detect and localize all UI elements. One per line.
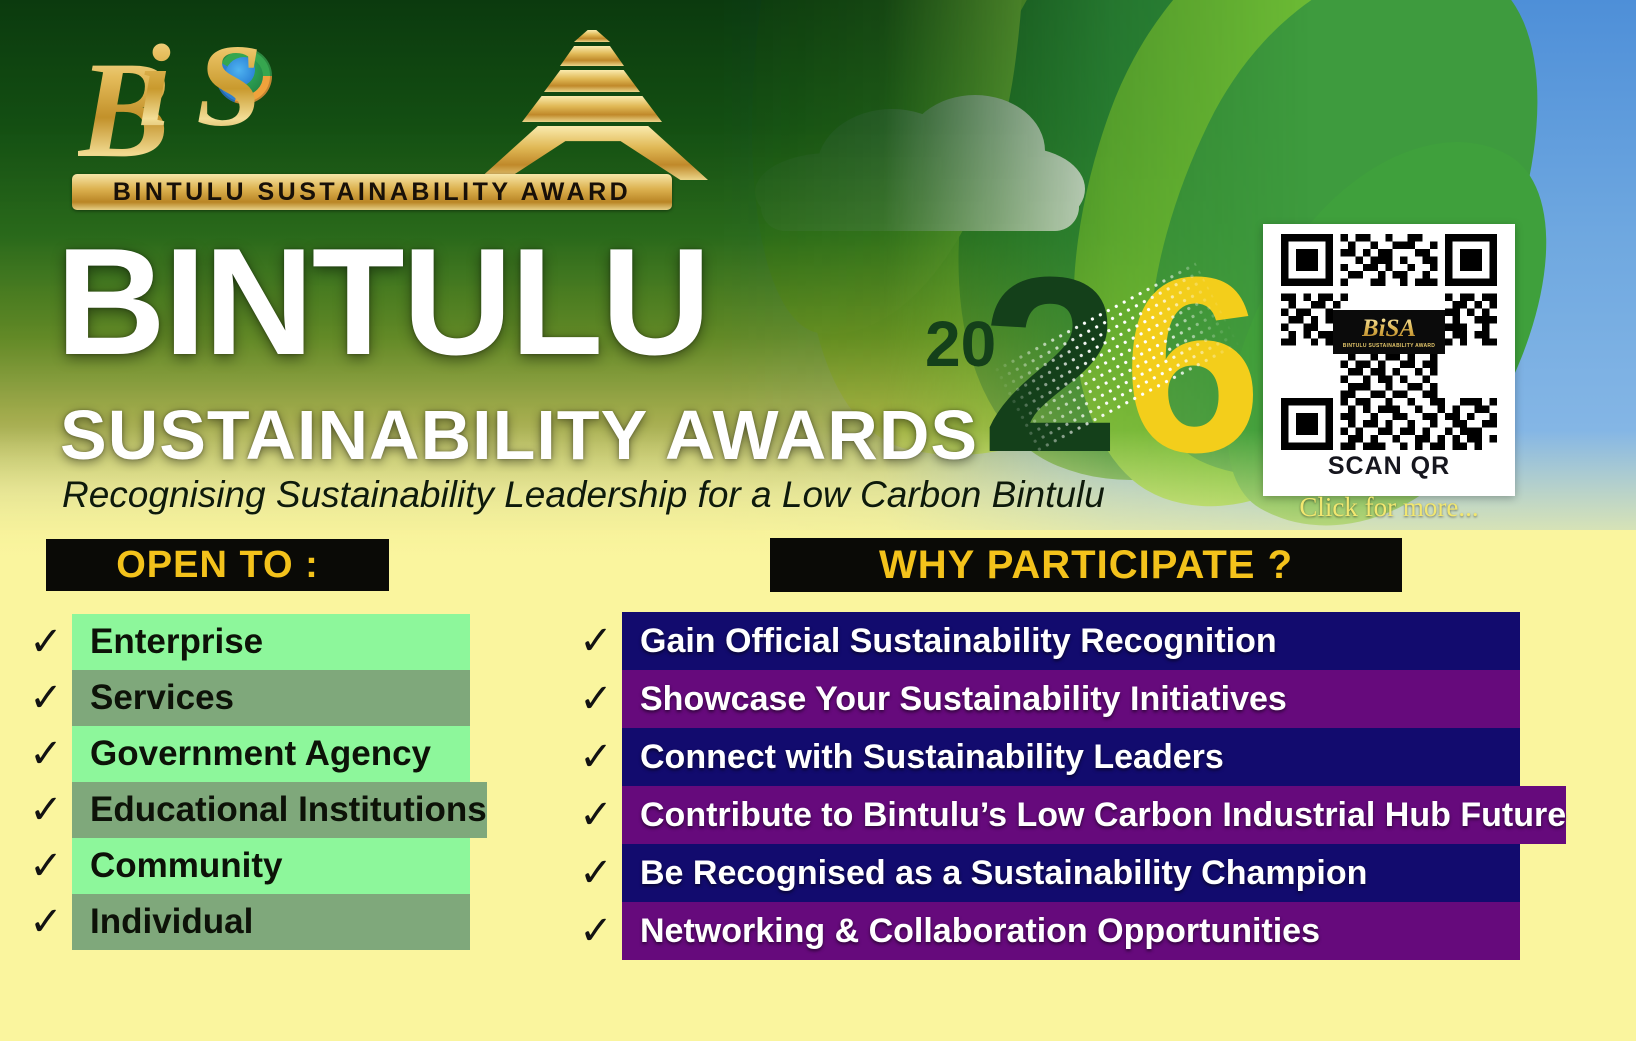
why-participate-heading-text: WHY PARTICIPATE ?: [879, 543, 1293, 588]
list-item-bar: Community: [72, 838, 470, 894]
list-item[interactable]: ✓ Community: [20, 838, 470, 894]
check-icon: ✓: [20, 782, 72, 838]
check-icon: ✓: [570, 670, 622, 728]
list-item-label: Gain Official Sustainability Recognition: [640, 622, 1277, 661]
list-item-bar: Showcase Your Sustainability Initiatives: [622, 670, 1520, 728]
qr-logo-band: BINTULU SUSTAINABILITY AWARD: [1343, 343, 1435, 349]
check-icon: ✓: [20, 894, 72, 950]
list-item-label: Educational Institutions: [90, 790, 487, 830]
list-item-label: Showcase Your Sustainability Initiatives: [640, 680, 1287, 719]
qr-code-card[interactable]: BiSA BINTULU SUSTAINABILITY AWARD SCAN Q…: [1263, 224, 1515, 496]
list-item-label: Contribute to Bintulu’s Low Carbon Indus…: [640, 796, 1566, 835]
check-icon: ✓: [570, 844, 622, 902]
open-to-header: OPEN TO :: [46, 539, 389, 591]
check-icon: ✓: [20, 670, 72, 726]
page-title: BINTULU: [56, 226, 709, 378]
logo-band-text: BINTULU SUSTAINABILITY AWARD: [113, 178, 631, 207]
list-item[interactable]: ✓ Services: [20, 670, 470, 726]
list-item-bar: Contribute to Bintulu’s Low Carbon Indus…: [622, 786, 1566, 844]
why-participate-header: WHY PARTICIPATE ?: [770, 538, 1402, 592]
logo-letters-isa: i S: [138, 18, 260, 154]
list-item[interactable]: ✓ Gain Official Sustainability Recogniti…: [570, 612, 1520, 670]
check-icon: ✓: [570, 612, 622, 670]
year-prefix-20: 20: [925, 312, 996, 376]
list-item-label: Individual: [90, 902, 253, 942]
check-icon: ✓: [20, 726, 72, 782]
list-item-bar: Gain Official Sustainability Recognition: [622, 612, 1520, 670]
check-icon: ✓: [570, 902, 622, 960]
check-icon: ✓: [570, 786, 622, 844]
list-item[interactable]: ✓ Enterprise: [20, 614, 470, 670]
list-item-label: Services: [90, 678, 234, 718]
list-item-bar: Services: [72, 670, 470, 726]
check-icon: ✓: [20, 614, 72, 670]
check-icon: ✓: [570, 728, 622, 786]
list-item-bar: Networking & Collaboration Opportunities: [622, 902, 1520, 960]
list-item-bar: Individual: [72, 894, 470, 950]
list-item-label: Networking & Collaboration Opportunities: [640, 912, 1320, 951]
bisa-logo-mark: B i S: [72, 24, 672, 174]
bisa-logo: B i S BINTULU SUSTAINABILITY AWARD: [72, 24, 672, 214]
page-subtitle: SUSTAINABILITY AWARDS: [60, 400, 978, 470]
list-item[interactable]: ✓ Contribute to Bintulu’s Low Carbon Ind…: [570, 786, 1520, 844]
list-item-label: Government Agency: [90, 734, 431, 774]
qr-click-link[interactable]: Click for more...: [1263, 492, 1515, 523]
list-item[interactable]: ✓ Individual: [20, 894, 470, 950]
list-item[interactable]: ✓ Networking & Collaboration Opportuniti…: [570, 902, 1520, 960]
qr-caption: SCAN QR: [1263, 452, 1515, 481]
list-item-label: Community: [90, 846, 283, 886]
list-item-bar: Government Agency: [72, 726, 470, 782]
open-to-list: ✓ Enterprise ✓ Services ✓ Government Age…: [20, 614, 470, 950]
list-item-bar: Enterprise: [72, 614, 470, 670]
why-participate-list: ✓ Gain Official Sustainability Recogniti…: [570, 612, 1520, 960]
year-graphic: 2 6 20: [905, 240, 1205, 490]
check-icon: ✓: [20, 838, 72, 894]
list-item-bar: Educational Institutions: [72, 782, 487, 838]
poster-canvas: B i S BINTULU SUSTAINABILITY AWARD BINTU…: [0, 0, 1636, 1041]
list-item-bar: Connect with Sustainability Leaders: [622, 728, 1520, 786]
list-item[interactable]: ✓ Connect with Sustainability Leaders: [570, 728, 1520, 786]
list-item[interactable]: ✓ Government Agency: [20, 726, 470, 782]
list-item-bar: Be Recognised as a Sustainability Champi…: [622, 844, 1520, 902]
list-item-label: Enterprise: [90, 622, 263, 662]
logo-band: BINTULU SUSTAINABILITY AWARD: [72, 174, 672, 210]
list-item[interactable]: ✓ Educational Institutions: [20, 782, 470, 838]
list-item-label: Connect with Sustainability Leaders: [640, 738, 1224, 777]
list-item[interactable]: ✓ Be Recognised as a Sustainability Cham…: [570, 844, 1520, 902]
gas-flare-tower-icon: [478, 30, 708, 180]
qr-embedded-logo: BiSA BINTULU SUSTAINABILITY AWARD: [1333, 310, 1445, 354]
list-item[interactable]: ✓ Showcase Your Sustainability Initiativ…: [570, 670, 1520, 728]
qr-logo-letters: BiSA: [1362, 316, 1416, 341]
list-item-label: Be Recognised as a Sustainability Champi…: [640, 854, 1367, 893]
open-to-heading-text: OPEN TO :: [116, 544, 319, 587]
